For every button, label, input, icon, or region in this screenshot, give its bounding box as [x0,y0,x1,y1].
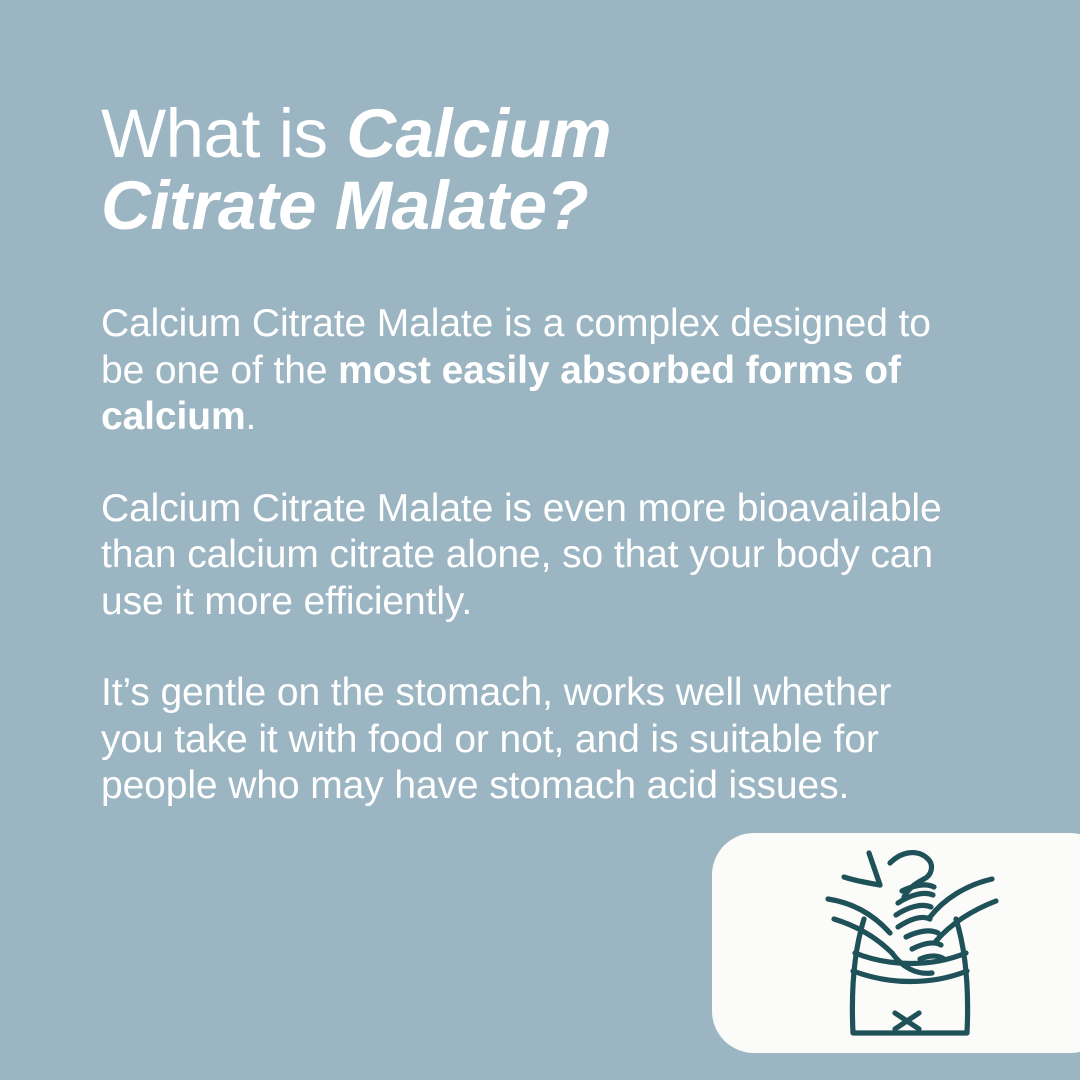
title-line-1: What is Calcium [101,98,961,170]
slide-canvas: What is Calcium Citrate Malate? Calcium … [0,0,1080,1080]
hands-on-stomach-icon [820,841,1000,1046]
paragraph-1: Calcium Citrate Malate is a complex desi… [101,301,961,441]
page-title: What is Calcium Citrate Malate? [101,98,961,242]
paragraph-2: Calcium Citrate Malate is even more bioa… [101,486,961,626]
illustration-card [712,833,1080,1053]
paragraph-3: It’s gentle on the stomach, works well w… [101,670,961,810]
body-copy: Calcium Citrate Malate is a complex desi… [101,301,961,810]
title-regular-text: What is [101,95,346,172]
paragraph-1-text-tail: . [246,395,257,438]
title-line-2: Citrate Malate? [101,170,961,242]
title-emphasis-text-1: Calcium [346,95,611,172]
title-emphasis-text-2: Citrate Malate? [101,167,588,244]
